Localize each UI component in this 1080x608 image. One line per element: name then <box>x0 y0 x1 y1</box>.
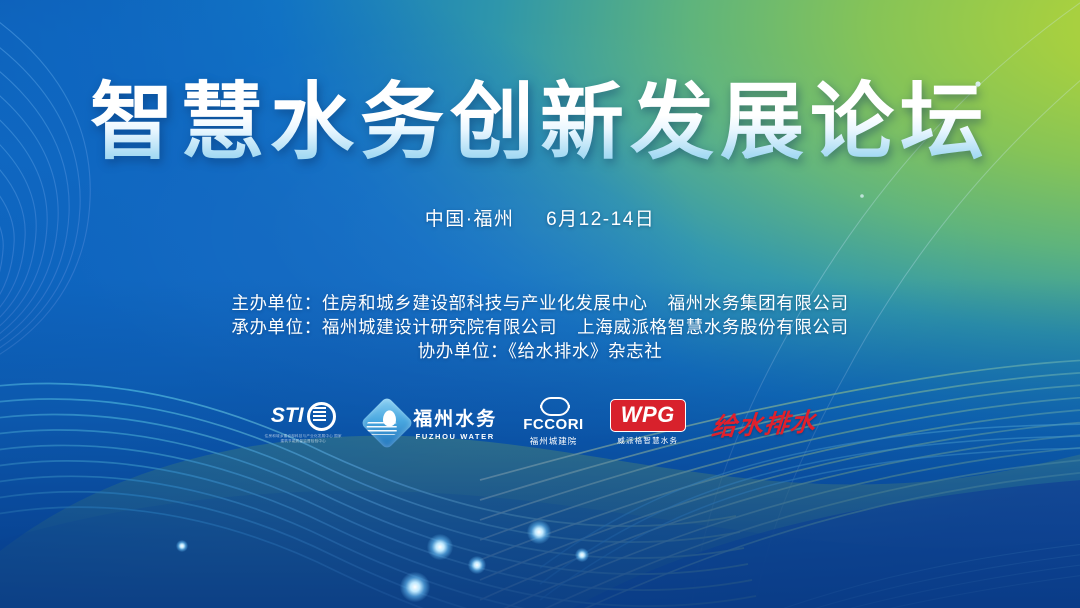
wpg-badge: WPG <box>610 399 686 432</box>
page-title: 智慧水务创新发展论坛 <box>0 78 1080 167</box>
logo-fuzhou-water: 福州水务 FUZHOU WATER <box>368 404 497 442</box>
logo-stid: STI 住房和城乡建设部科技与产业化发展中心 国家建筑节能质量监督检验中心 <box>264 402 342 444</box>
wave-lines <box>367 421 397 434</box>
organizer-role: 协办单位： <box>418 341 509 361</box>
event-subtitle: 中国·福州 6月12-14日 <box>0 204 1080 231</box>
organizer-role: 主办单位： <box>231 293 322 313</box>
stid-subtitle: 住房和城乡建设部科技与产业化发展中心 国家建筑节能质量监督检验中心 <box>264 434 342 444</box>
organizer-line: 承办单位：福州城建设计研究院有限公司上海威派格智慧水务股份有限公司 <box>0 315 1080 339</box>
poster-content: 智慧水务创新发展论坛 中国·福州 6月12-14日 主办单位：住房和城乡建设部科… <box>0 0 1080 608</box>
logo-wpg: WPG 威派格智慧水务 <box>610 399 686 446</box>
logo-water-supply-drainage: 给水排水 <box>712 405 816 441</box>
logo-fccori: FCCORI 福州城建院 <box>523 398 584 447</box>
organizer-name: 上海威派格智慧水务股份有限公司 <box>577 317 849 337</box>
water-drop-icon <box>360 396 414 450</box>
fuzhou-en: FUZHOU WATER <box>416 432 495 441</box>
stid-d-icon <box>307 402 336 431</box>
event-dates: 6月12-14日 <box>546 209 655 230</box>
sponsor-logo-row: STI 住房和城乡建设部科技与产业化发展中心 国家建筑节能质量监督检验中心 福州… <box>0 398 1080 447</box>
stid-letters: STI <box>271 404 304 428</box>
fuzhou-wordmark: 福州水务 FUZHOU WATER <box>413 404 497 441</box>
stid-wordmark: STI <box>271 402 336 431</box>
fuzhou-cn: 福州水务 <box>413 404 497 431</box>
organizer-name: 福州城建设计研究院有限公司 <box>322 317 557 337</box>
fccori-circle-icon <box>540 398 566 415</box>
conference-poster: 智慧水务创新发展论坛 中国·福州 6月12-14日 主办单位：住房和城乡建设部科… <box>0 0 1080 608</box>
wpg-letters: WPG <box>621 402 675 427</box>
event-location: 中国·福州 <box>425 209 515 230</box>
organizer-name: 福州水务集团有限公司 <box>668 293 849 313</box>
fccori-letters: FCCORI <box>523 416 584 433</box>
organizer-line: 主办单位：住房和城乡建设部科技与产业化发展中心福州水务集团有限公司 <box>0 291 1080 315</box>
organizer-name: 住房和城乡建设部科技与产业化发展中心 <box>322 293 648 313</box>
journal-wordmark: 给水排水 <box>710 402 818 443</box>
organizer-role: 承办单位： <box>231 317 322 337</box>
organizer-line: 协办单位：《给水排水》杂志社 <box>0 339 1080 363</box>
organizers-block: 主办单位：住房和城乡建设部科技与产业化发展中心福州水务集团有限公司 承办单位：福… <box>0 291 1080 363</box>
wpg-subtitle: 威派格智慧水务 <box>617 435 678 446</box>
fccori-subtitle: 福州城建院 <box>530 435 578 447</box>
organizer-name: 《给水排水》杂志社 <box>508 341 662 361</box>
